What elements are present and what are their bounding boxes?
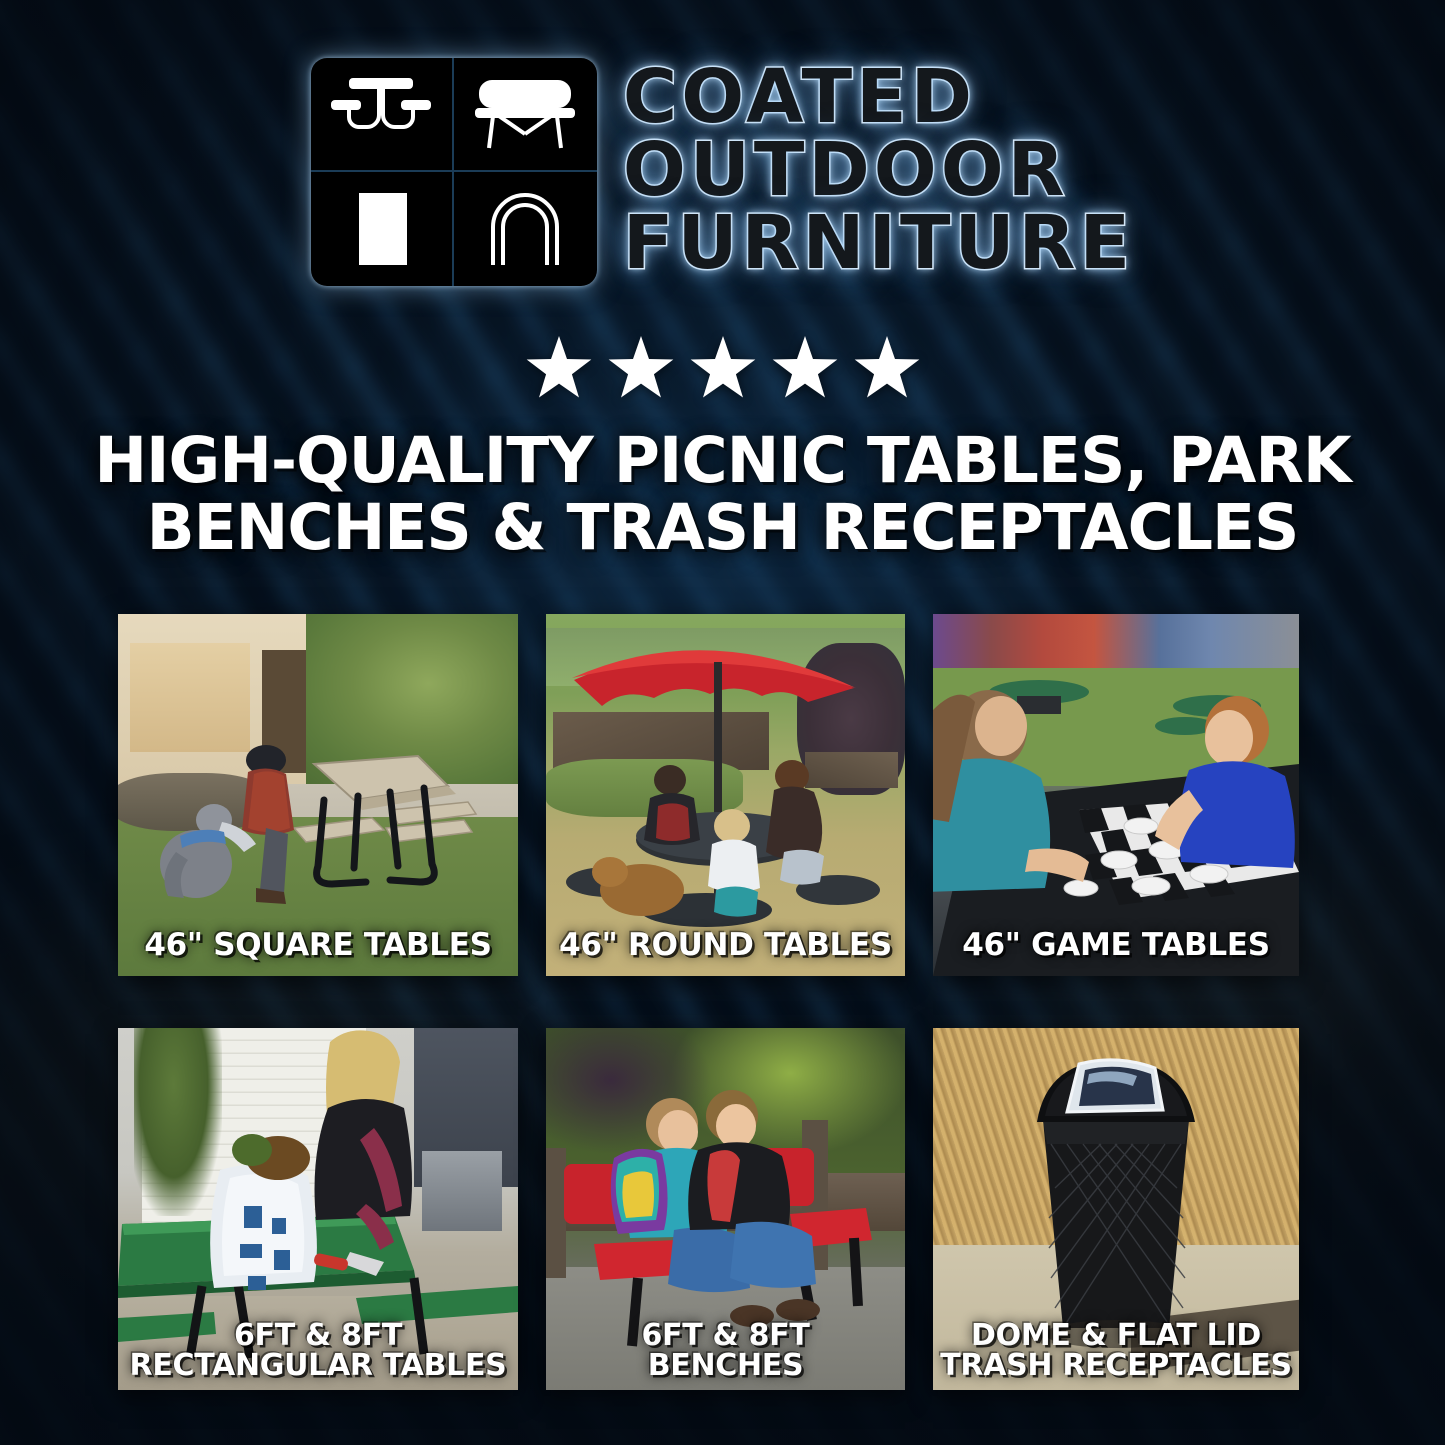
product-grid: 46" SQUARE TABLES [118,614,1326,1390]
picnic-table-icon [311,58,454,172]
star-icon [771,336,839,404]
trash-receptacle-icon [311,172,454,286]
product-caption: 6FT & 8FT BENCHES [546,1321,905,1382]
product-caption: 46" GAME TABLES [933,930,1299,962]
brand-line-3: FURNITURE [623,208,1134,279]
brand-line-1: COATED [623,62,1134,133]
product-caption: 46" ROUND TABLES [546,930,905,962]
product-photo-game-tables [933,614,1299,976]
brand-line-2: OUTDOOR [623,135,1134,206]
product-tile-game-tables[interactable]: 46" GAME TABLES [933,614,1299,976]
product-tile-benches[interactable]: 6FT & 8FT BENCHES [546,1028,905,1390]
star-icon [525,336,593,404]
product-caption: 46" SQUARE TABLES [118,930,518,962]
star-icon [853,336,921,404]
product-tile-rectangular-tables[interactable]: 6FT & 8FT RECTANGULAR TABLES [118,1028,518,1390]
product-tile-round-tables[interactable]: 46" ROUND TABLES [546,614,905,976]
product-tile-square-tables[interactable]: 46" SQUARE TABLES [118,614,518,976]
product-caption: DOME & FLAT LID TRASH RECEPTACLES [933,1321,1299,1382]
product-tile-trash-receptacles[interactable]: DOME & FLAT LID TRASH RECEPTACLES [933,1028,1299,1390]
product-caption: 6FT & 8FT RECTANGULAR TABLES [118,1321,518,1382]
star-rating [0,336,1445,404]
logo-mark [311,58,597,286]
star-icon [607,336,675,404]
headline-line-2: BENCHES & TRASH RECEPTACLES [93,495,1353,562]
star-icon [689,336,757,404]
product-photo-round-tables [546,614,905,976]
headline-line-1: HIGH-QUALITY PICNIC TABLES, PARK [93,428,1353,495]
bench-table-icon [454,58,597,172]
brand-wordmark: COATED OUTDOOR FURNITURE [623,58,1134,279]
brand-logo: COATED OUTDOOR FURNITURE [0,58,1445,286]
promo-poster: COATED OUTDOOR FURNITURE HIGH-QUALITY PI… [0,0,1445,1445]
bike-rack-icon [454,172,597,286]
product-photo-square-tables [118,614,518,976]
page-title: HIGH-QUALITY PICNIC TABLES, PARK BENCHES… [93,428,1353,562]
